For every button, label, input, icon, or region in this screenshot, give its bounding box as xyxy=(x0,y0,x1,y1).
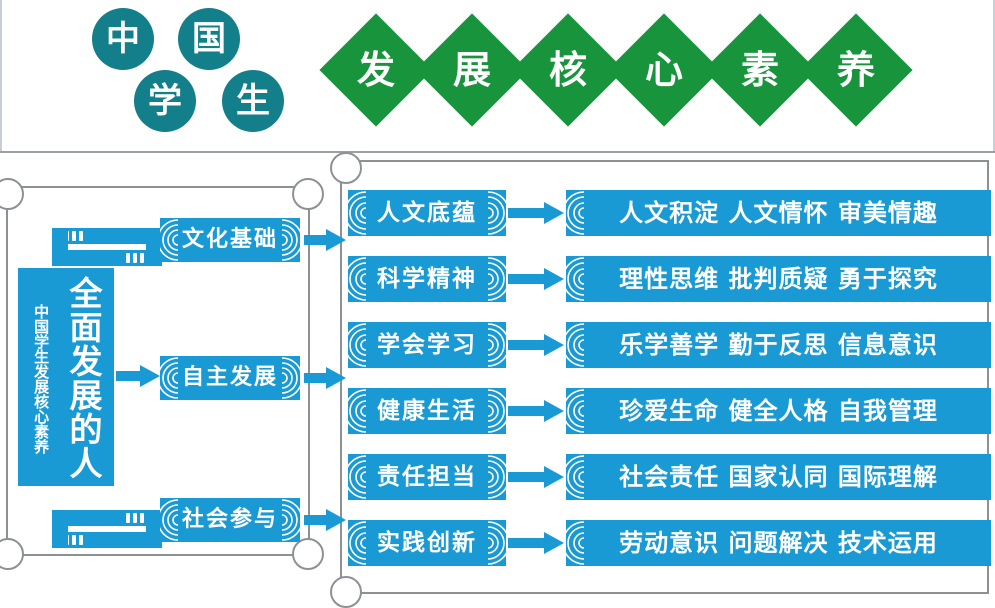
category-banner-label: 人文底蕴 xyxy=(377,202,477,225)
connector-pipe-bottom-join2 xyxy=(52,510,68,548)
category-banner-label: 科学精神 xyxy=(377,268,477,291)
detail-banner-label: 珍爱生命 健全人格 自我管理 xyxy=(619,399,938,423)
detail-banner-5[interactable]: 社会责任 国家认同 国际理解 xyxy=(566,454,991,500)
diamond-char: 养 xyxy=(800,14,912,126)
detail-banner-label: 理性思维 批判质疑 勇于探究 xyxy=(619,267,938,291)
domain-banner-label: 文化基础 xyxy=(182,229,278,251)
banner-fan-left-icon xyxy=(566,454,586,500)
banner-fan-right-icon xyxy=(486,322,506,368)
circle-xue: 学 xyxy=(134,70,196,132)
arrow-category-6-out xyxy=(508,532,564,554)
category-banner-1[interactable]: 人文底蕴 xyxy=(348,190,506,236)
banner-fan-left-icon xyxy=(160,356,180,400)
banner-fan-right-icon xyxy=(280,356,300,400)
banner-fan-right-icon xyxy=(486,520,506,566)
circle-zhong: 中 xyxy=(92,8,154,70)
arrow-category-3-out xyxy=(508,334,564,356)
frame-notch-tr xyxy=(292,178,324,210)
banner-fan-left-icon xyxy=(348,388,368,434)
banner-fan-left-icon xyxy=(566,520,586,566)
banner-fan-right-icon xyxy=(280,498,300,542)
domain-banner-2[interactable]: 自主发展 xyxy=(160,356,300,400)
domain-banner-3[interactable]: 社会参与 xyxy=(160,498,300,542)
banner-fan-left-icon xyxy=(348,520,368,566)
banner-fan-left-icon xyxy=(566,190,586,236)
detail-banner-label: 社会责任 国家认同 国际理解 xyxy=(619,465,938,489)
arrow-category-4-out xyxy=(508,400,564,422)
right-frame-notch-tl xyxy=(330,152,362,184)
arrow-category-5-out xyxy=(508,466,564,488)
category-banner-label: 健康生活 xyxy=(377,400,477,423)
arrow-domain-2-out xyxy=(304,367,346,389)
header-left-edge xyxy=(0,0,2,152)
detail-banner-label: 人文积淀 人文情怀 审美情趣 xyxy=(619,201,938,225)
header-divider xyxy=(0,151,995,153)
detail-banner-1[interactable]: 人文积淀 人文情怀 审美情趣 xyxy=(566,190,991,236)
frame-notch-br xyxy=(292,538,324,570)
domain-banner-1[interactable]: 文化基础 xyxy=(160,218,300,262)
category-banner-6[interactable]: 实践创新 xyxy=(348,520,506,566)
banner-fan-left-icon xyxy=(348,190,368,236)
category-banner-3[interactable]: 学会学习 xyxy=(348,322,506,368)
banner-fan-right-icon xyxy=(486,190,506,236)
arrow-category-2-out xyxy=(508,268,564,290)
diamond-yang: 养 xyxy=(800,14,912,126)
arrow-center-to-domain-2 xyxy=(116,365,160,387)
banner-fan-left-icon xyxy=(566,256,586,302)
banner-fan-right-icon xyxy=(486,388,506,434)
banner-fan-left-icon xyxy=(348,256,368,302)
banner-fan-left-icon xyxy=(160,218,180,262)
banner-fan-right-icon xyxy=(486,454,506,500)
center-sub-text: 中国学生发展核心素养 xyxy=(28,276,54,482)
domain-banner-label: 自主发展 xyxy=(182,367,278,389)
banner-fan-right-icon xyxy=(486,256,506,302)
category-banner-5[interactable]: 责任担当 xyxy=(348,454,506,500)
arrow-domain-1-out xyxy=(304,229,346,251)
detail-banner-6[interactable]: 劳动意识 问题解决 技术运用 xyxy=(566,520,991,566)
arrow-domain-3-out xyxy=(304,509,346,531)
circle-guo: 国 xyxy=(178,8,240,70)
banner-fan-right-icon xyxy=(280,218,300,262)
detail-banner-label: 劳动意识 问题解决 技术运用 xyxy=(619,531,938,555)
right-frame-notch-bl xyxy=(330,576,362,608)
banner-fan-left-icon xyxy=(348,454,368,500)
banner-fan-left-icon xyxy=(160,498,180,542)
detail-banner-3[interactable]: 乐学善学 勤于反思 信息意识 xyxy=(566,322,991,368)
center-main-text: 全面发展的人 xyxy=(58,272,108,484)
detail-banner-2[interactable]: 理性思维 批判质疑 勇于探究 xyxy=(566,256,991,302)
category-banner-label: 责任担当 xyxy=(377,466,477,489)
domain-banner-label: 社会参与 xyxy=(182,509,278,531)
detail-banner-4[interactable]: 珍爱生命 健全人格 自我管理 xyxy=(566,388,991,434)
banner-fan-left-icon xyxy=(566,388,586,434)
connector-pipe-top-join2 xyxy=(52,228,68,266)
banner-fan-left-icon xyxy=(566,322,586,368)
poster-canvas: 中 国 学 生 发 展 核 心 素 养 xyxy=(0,0,995,607)
banner-fan-left-icon xyxy=(348,322,368,368)
arrow-category-1-out xyxy=(508,202,564,224)
category-banner-label: 学会学习 xyxy=(377,334,477,357)
detail-banner-label: 乐学善学 勤于反思 信息意识 xyxy=(619,333,938,357)
circle-sheng: 生 xyxy=(222,70,284,132)
category-banner-2[interactable]: 科学精神 xyxy=(348,256,506,302)
category-banner-4[interactable]: 健康生活 xyxy=(348,388,506,434)
category-banner-label: 实践创新 xyxy=(377,532,477,555)
